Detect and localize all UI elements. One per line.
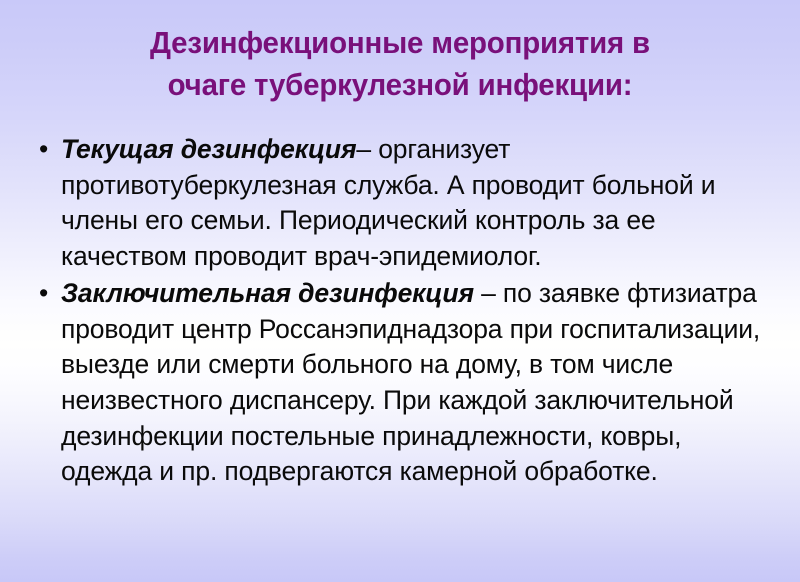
bullet-marker-icon: •	[39, 276, 53, 312]
bullet-marker-icon: •	[39, 132, 53, 168]
presentation-slide: Дезинфекционные мероприятия в очаге тубе…	[0, 0, 800, 582]
bullet-lead-phrase: Заключительная дезинфекция	[61, 278, 474, 308]
bullet-body-text: – по заявке фтизиатра проводит центр Рос…	[61, 278, 760, 487]
slide-title-line-2: очаге туберкулезной инфекции:	[54, 64, 746, 106]
bullet-item-text: Текущая дезинфекция– организует противот…	[61, 134, 715, 271]
bullet-item-text: Заключительная дезинфекция – по заявке ф…	[61, 278, 760, 487]
slide-title-line-1: Дезинфекционные мероприятия в	[54, 22, 746, 64]
bullet-item-current-disinfection: • Текущая дезинфекция– организует против…	[28, 132, 772, 275]
bullet-list: • Текущая дезинфекция– организует против…	[28, 132, 772, 490]
slide-title: Дезинфекционные мероприятия в очаге тубе…	[0, 22, 800, 106]
bullet-item-final-disinfection: • Заключительная дезинфекция – по заявке…	[28, 276, 772, 490]
slide-body: • Текущая дезинфекция– организует против…	[28, 132, 772, 491]
bullet-lead-phrase: Текущая дезинфекция	[61, 134, 356, 164]
